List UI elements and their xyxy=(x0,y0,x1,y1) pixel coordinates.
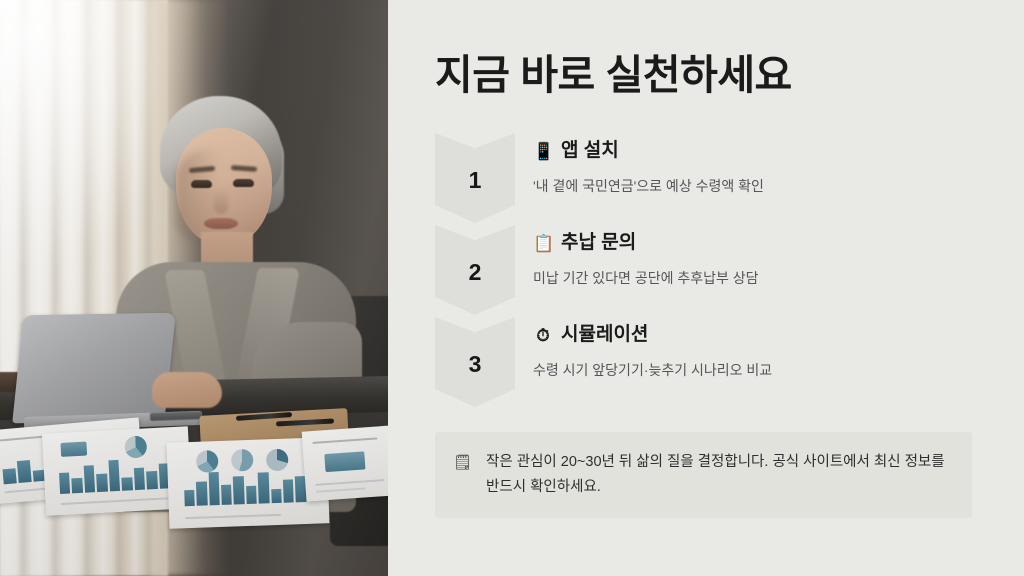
footer-note-text: 작은 관심이 20~30년 뒤 삶의 질을 결정합니다. 공식 사이트에서 최신… xyxy=(486,450,950,500)
paper-bar-chart xyxy=(183,466,306,506)
page-title: 지금 바로 실천하세요 xyxy=(435,52,792,99)
step-heading: 📋 추납 문의 xyxy=(533,231,975,256)
step-heading-text: 시뮬레이션 xyxy=(561,323,648,348)
step-number: 3 xyxy=(469,349,482,376)
step-item-1[interactable]: 1 📱 앱 설치 '내 곁에 국민연금'으로 예상 수령액 확인 xyxy=(435,133,975,225)
step-item-2[interactable]: 2 📋 추납 문의 미납 기간 있다면 공단에 추후납부 상담 xyxy=(435,225,975,317)
note-page-icon: 🗒 xyxy=(453,450,472,474)
step-heading-text: 앱 설치 xyxy=(561,139,619,164)
hero-photo xyxy=(0,0,388,576)
steps-list: 1 📱 앱 설치 '내 곁에 국민연금'으로 예상 수령액 확인 2 📋 xyxy=(435,133,975,409)
step-badge-3: 3 xyxy=(435,317,515,407)
step-description: 미납 기간 있다면 공단에 추후납부 상담 xyxy=(533,268,975,289)
content-panel: 지금 바로 실천하세요 1 📱 앱 설치 '내 곁에 국민연금'으로 예상 수령… xyxy=(388,0,1024,576)
stopwatch-icon: ⏱ xyxy=(533,327,553,344)
step-body: 📋 추납 문의 미납 기간 있다면 공단에 추후납부 상담 xyxy=(533,231,975,289)
step-badge-1: 1 xyxy=(435,133,515,223)
step-body: 📱 앱 설치 '내 곁에 국민연금'으로 예상 수령액 확인 xyxy=(533,139,975,197)
step-description: '내 곁에 국민연금'으로 예상 수령액 확인 xyxy=(533,176,975,197)
step-heading: ⏱ 시뮬레이션 xyxy=(533,323,975,348)
laptop-screen xyxy=(12,313,176,424)
lips xyxy=(204,218,238,229)
step-number: 1 xyxy=(469,165,482,192)
step-number: 2 xyxy=(469,257,482,284)
chart-paper-4 xyxy=(302,424,388,501)
step-heading: 📱 앱 설치 xyxy=(533,139,975,164)
nose xyxy=(214,188,228,214)
clipboard-icon: 📋 xyxy=(533,235,553,252)
step-description: 수령 시기 앞당기기·늦추기 시나리오 비교 xyxy=(533,360,975,381)
step-heading-text: 추납 문의 xyxy=(561,231,636,256)
paper-bar-chart xyxy=(58,454,171,494)
footer-note-box: 🗒 작은 관심이 20~30년 뒤 삶의 질을 결정합니다. 공식 사이트에서 … xyxy=(435,432,972,518)
mobile-phone-icon: 📱 xyxy=(533,143,553,160)
typing-hand xyxy=(152,372,222,408)
step-item-3[interactable]: 3 ⏱ 시뮬레이션 수령 시기 앞당기기·늦추기 시나리오 비교 xyxy=(435,317,975,409)
eye-left xyxy=(191,180,212,188)
step-badge-2: 2 xyxy=(435,225,515,315)
slide-root: 지금 바로 실천하세요 1 📱 앱 설치 '내 곁에 국민연금'으로 예상 수령… xyxy=(0,0,1024,576)
eye-right xyxy=(233,179,254,187)
step-body: ⏱ 시뮬레이션 수령 시기 앞당기기·늦추기 시나리오 비교 xyxy=(533,323,975,381)
